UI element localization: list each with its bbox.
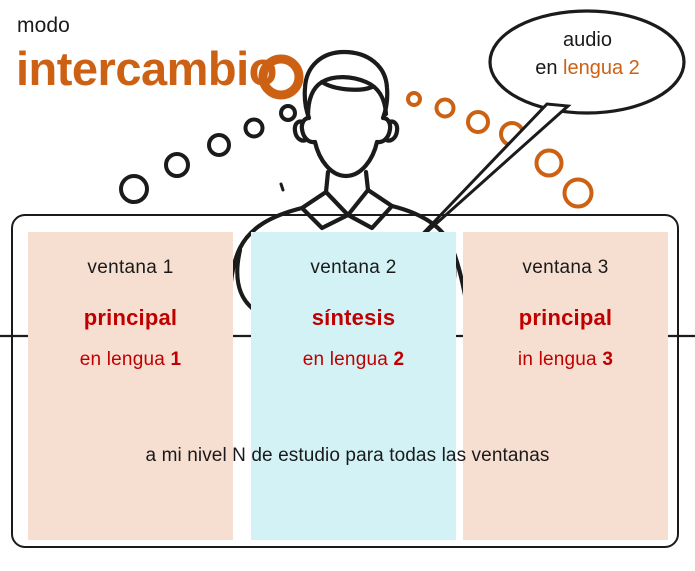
window-column-1-content: ventana 1 principal en lengua 1: [28, 232, 233, 371]
window-column-1-role: principal: [28, 305, 233, 331]
window-column-3-content: ventana 3 principal in lengua 3: [463, 232, 668, 371]
diagram-canvas: modo intercambio: [0, 0, 695, 571]
window-column-3-role: principal: [463, 305, 668, 331]
speech-bubble-text: audio en lengua 2: [500, 26, 675, 83]
window-column-1-language-prefix: en lengua: [80, 349, 171, 370]
speech-bubble-line-2: en lengua 2: [500, 54, 675, 82]
bubbles-right: [408, 93, 592, 207]
speech-bubble-line-2-prefix: en: [535, 57, 563, 79]
window-column-2-language: en lengua 2: [251, 349, 456, 371]
panel-footer-note: a mi nivel N de estudio para todas las v…: [0, 445, 695, 467]
window-column-2-language-number: 2: [393, 349, 404, 370]
window-column-3[interactable]: ventana 3 principal in lengua 3: [463, 232, 668, 540]
window-column-3-language-number: 3: [602, 349, 613, 370]
window-column-1[interactable]: ventana 1 principal en lengua 1: [28, 232, 233, 540]
window-column-2[interactable]: ventana 2 síntesis en lengua 2: [251, 232, 456, 540]
speech-bubble-line-1: audio: [500, 26, 675, 54]
window-column-2-content: ventana 2 síntesis en lengua 2: [251, 232, 456, 371]
window-column-1-language-number: 1: [170, 349, 181, 370]
window-column-3-language-prefix: in lengua: [518, 349, 602, 370]
speech-bubble-line-2-accent: lengua 2: [563, 57, 640, 79]
bubbles-left: [121, 106, 295, 202]
window-column-2-role: síntesis: [251, 305, 456, 331]
window-column-2-language-prefix: en lengua: [303, 349, 394, 370]
window-column-1-label: ventana 1: [28, 257, 233, 279]
window-column-1-language: en lengua 1: [28, 349, 233, 371]
window-column-2-label: ventana 2: [251, 257, 456, 279]
window-column-3-label: ventana 3: [463, 257, 668, 279]
window-column-3-language: in lengua 3: [463, 349, 668, 371]
header-kicker: modo: [17, 14, 70, 38]
page-title: intercambio: [16, 44, 277, 93]
